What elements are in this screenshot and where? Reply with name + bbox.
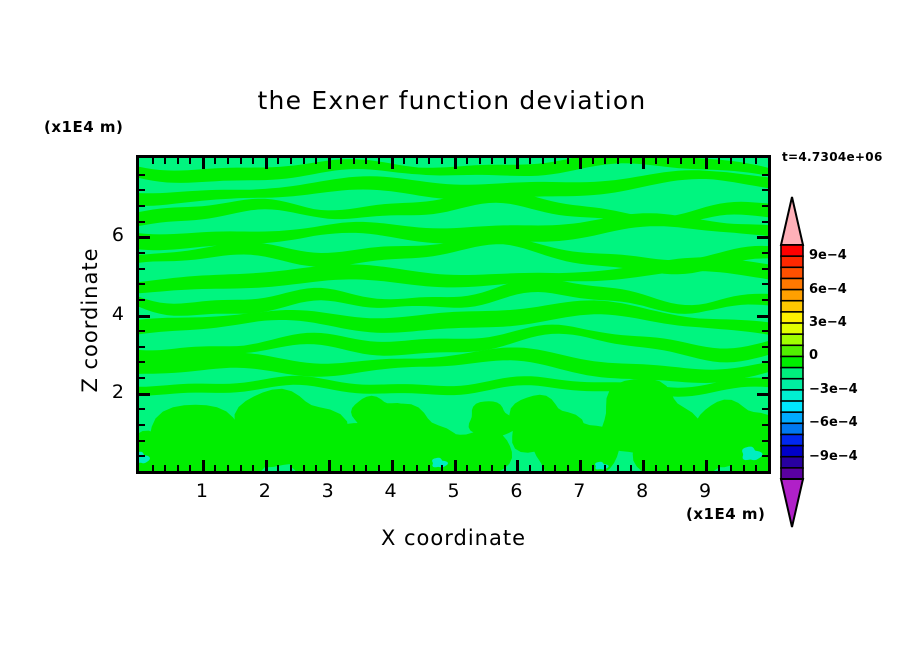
colorbar-tick-label: 6e−4	[809, 282, 847, 297]
colorbar-cell	[781, 356, 803, 368]
tick-mark	[762, 377, 768, 379]
tick-mark	[139, 236, 150, 239]
tick-mark	[202, 158, 205, 169]
tick-mark	[340, 465, 342, 471]
tick-mark	[762, 455, 768, 457]
colorbar-cell	[781, 379, 803, 391]
tick-mark	[139, 205, 145, 207]
tick-mark	[177, 465, 179, 471]
tick-mark	[762, 330, 768, 332]
tick-mark	[705, 158, 708, 169]
tick-mark	[529, 465, 531, 471]
tick-mark	[416, 158, 418, 164]
tick-mark	[227, 158, 229, 164]
tick-mark	[762, 189, 768, 191]
tick-mark	[642, 158, 645, 169]
tick-mark	[353, 465, 355, 471]
x-tick-label: 2	[245, 480, 285, 502]
tick-mark	[353, 158, 355, 164]
tick-mark	[139, 361, 145, 363]
tick-mark	[757, 393, 768, 396]
tick-mark	[592, 158, 594, 164]
colorbar-tick-label: −9e−4	[809, 449, 858, 464]
tick-mark	[757, 315, 768, 318]
x-tick-label: 5	[434, 480, 474, 502]
tick-mark	[630, 158, 632, 164]
triangle-up-icon	[781, 197, 803, 245]
tick-mark	[516, 158, 519, 169]
colorbar-tick-label: −6e−4	[809, 415, 858, 430]
tick-mark	[762, 346, 768, 348]
colorbar-cell	[781, 301, 803, 313]
colorbar-cell	[781, 423, 803, 435]
tick-mark	[466, 465, 468, 471]
x-tick-label: 8	[622, 480, 662, 502]
tick-mark	[265, 158, 268, 169]
tick-mark	[139, 408, 145, 410]
tick-mark	[403, 158, 405, 164]
tick-mark	[139, 377, 145, 379]
tick-mark	[428, 158, 430, 164]
tick-mark	[365, 158, 367, 164]
tick-mark	[743, 158, 745, 164]
tick-mark	[139, 440, 145, 442]
tick-mark	[403, 465, 405, 471]
tick-mark	[730, 465, 732, 471]
tick-mark	[529, 158, 531, 164]
tick-mark	[642, 460, 645, 471]
tick-mark	[315, 158, 317, 164]
tick-mark	[579, 158, 582, 169]
tick-mark	[441, 465, 443, 471]
tick-mark	[693, 465, 695, 471]
tick-mark	[139, 393, 150, 396]
tick-mark	[139, 315, 150, 318]
tick-mark	[391, 158, 394, 169]
tick-mark	[152, 465, 154, 471]
x-tick-label: 7	[559, 480, 599, 502]
tick-mark	[491, 158, 493, 164]
tick-mark	[762, 221, 768, 223]
tick-mark	[504, 465, 506, 471]
tick-mark	[762, 424, 768, 426]
chart-canvas: the Exner function deviation (x1E4 m) (x…	[0, 0, 904, 654]
tick-mark	[378, 465, 380, 471]
tick-mark	[240, 158, 242, 164]
tick-mark	[428, 465, 430, 471]
tick-mark	[340, 158, 342, 164]
tick-mark	[693, 158, 695, 164]
x-axis-units-label: (x1E4 m)	[686, 505, 765, 523]
tick-mark	[655, 158, 657, 164]
tick-mark	[592, 465, 594, 471]
tick-mark	[315, 465, 317, 471]
tick-mark	[617, 158, 619, 164]
x-tick-label: 4	[371, 480, 411, 502]
tick-mark	[617, 465, 619, 471]
x-tick-label: 3	[308, 480, 348, 502]
y-tick-label: 6	[84, 224, 124, 246]
tick-mark	[214, 158, 216, 164]
tick-mark	[762, 299, 768, 301]
colorbar-cell	[781, 312, 803, 324]
tick-mark	[718, 465, 720, 471]
colorbar-cell	[781, 345, 803, 357]
tick-mark	[252, 158, 254, 164]
colorbar[interactable]: 9e−46e−43e−40−3e−4−6e−4−9e−4	[779, 196, 805, 528]
tick-mark	[762, 174, 768, 176]
tick-mark	[554, 465, 556, 471]
colorbar-tick-label: 0	[809, 348, 818, 363]
tick-mark	[454, 460, 457, 471]
tick-mark	[290, 465, 292, 471]
tick-mark	[416, 465, 418, 471]
tick-mark	[303, 158, 305, 164]
tick-mark	[479, 465, 481, 471]
tick-mark	[762, 361, 768, 363]
tick-mark	[328, 158, 331, 169]
colorbar-tick-label: 9e−4	[809, 248, 847, 263]
colorbar-cell	[781, 457, 803, 469]
colorbar-swatches	[779, 196, 805, 528]
tick-mark	[189, 465, 191, 471]
tick-mark	[139, 221, 145, 223]
timestamp-label: t=4.7304e+06	[782, 150, 883, 164]
contour-field	[139, 158, 768, 471]
tick-mark	[680, 465, 682, 471]
y-axis-units-label: (x1E4 m)	[44, 118, 123, 136]
tick-mark	[391, 460, 394, 471]
tick-mark	[542, 465, 544, 471]
colorbar-cell	[781, 256, 803, 268]
tick-mark	[441, 158, 443, 164]
tick-mark	[139, 455, 145, 457]
colorbar-cell	[781, 412, 803, 424]
colorbar-cell	[781, 390, 803, 402]
tick-mark	[718, 158, 720, 164]
tick-mark	[177, 158, 179, 164]
tick-mark	[240, 465, 242, 471]
tick-mark	[139, 424, 145, 426]
tick-mark	[152, 158, 154, 164]
tick-mark	[516, 460, 519, 471]
tick-mark	[491, 465, 493, 471]
tick-mark	[139, 283, 145, 285]
colorbar-tick-label: −3e−4	[809, 382, 858, 397]
tick-mark	[504, 158, 506, 164]
colorbar-cell	[781, 267, 803, 279]
tick-mark	[139, 299, 145, 301]
tick-mark	[466, 158, 468, 164]
tick-mark	[290, 158, 292, 164]
tick-mark	[139, 268, 145, 270]
tick-mark	[214, 465, 216, 471]
tick-mark	[743, 465, 745, 471]
x-tick-label: 1	[182, 480, 222, 502]
tick-mark	[454, 158, 457, 169]
tick-mark	[655, 465, 657, 471]
y-tick-label: 4	[84, 303, 124, 325]
tick-mark	[139, 189, 145, 191]
tick-mark	[378, 158, 380, 164]
tick-mark	[542, 158, 544, 164]
colorbar-cell	[781, 401, 803, 413]
colorbar-cell	[781, 290, 803, 302]
tick-mark	[680, 158, 682, 164]
y-tick-label: 2	[84, 381, 124, 403]
triangle-down-icon	[781, 479, 803, 527]
tick-mark	[227, 465, 229, 471]
tick-mark	[365, 465, 367, 471]
tick-mark	[755, 465, 757, 471]
tick-mark	[755, 158, 757, 164]
colorbar-cell	[781, 278, 803, 290]
colorbar-cell	[781, 468, 803, 480]
tick-mark	[762, 440, 768, 442]
colorbar-cell	[781, 434, 803, 446]
x-tick-label: 6	[496, 480, 536, 502]
tick-mark	[567, 465, 569, 471]
tick-mark	[667, 158, 669, 164]
tick-mark	[762, 268, 768, 270]
tick-mark	[762, 252, 768, 254]
contour-plot-area	[136, 155, 771, 474]
tick-mark	[139, 252, 145, 254]
tick-mark	[139, 174, 145, 176]
tick-mark	[604, 158, 606, 164]
tick-mark	[164, 465, 166, 471]
tick-mark	[479, 158, 481, 164]
tick-mark	[604, 465, 606, 471]
tick-mark	[265, 460, 268, 471]
tick-mark	[277, 465, 279, 471]
tick-mark	[189, 158, 191, 164]
tick-mark	[252, 465, 254, 471]
tick-mark	[164, 158, 166, 164]
colorbar-cell	[781, 245, 803, 257]
chart-title: the Exner function deviation	[0, 86, 904, 115]
tick-mark	[277, 158, 279, 164]
tick-mark	[757, 236, 768, 239]
colorbar-cell	[781, 334, 803, 346]
tick-mark	[554, 158, 556, 164]
tick-mark	[328, 460, 331, 471]
tick-mark	[139, 346, 145, 348]
tick-mark	[762, 205, 768, 207]
tick-mark	[303, 465, 305, 471]
tick-mark	[762, 408, 768, 410]
tick-mark	[579, 460, 582, 471]
colorbar-cell	[781, 323, 803, 335]
tick-mark	[730, 158, 732, 164]
tick-mark	[202, 460, 205, 471]
tick-mark	[762, 283, 768, 285]
tick-mark	[705, 460, 708, 471]
colorbar-cell	[781, 446, 803, 458]
colorbar-cell	[781, 368, 803, 380]
x-axis-title: X coordinate	[136, 526, 771, 550]
tick-mark	[567, 158, 569, 164]
colorbar-tick-label: 3e−4	[809, 315, 847, 330]
tick-mark	[630, 465, 632, 471]
tick-mark	[667, 465, 669, 471]
tick-mark	[139, 330, 145, 332]
x-tick-label: 9	[685, 480, 725, 502]
